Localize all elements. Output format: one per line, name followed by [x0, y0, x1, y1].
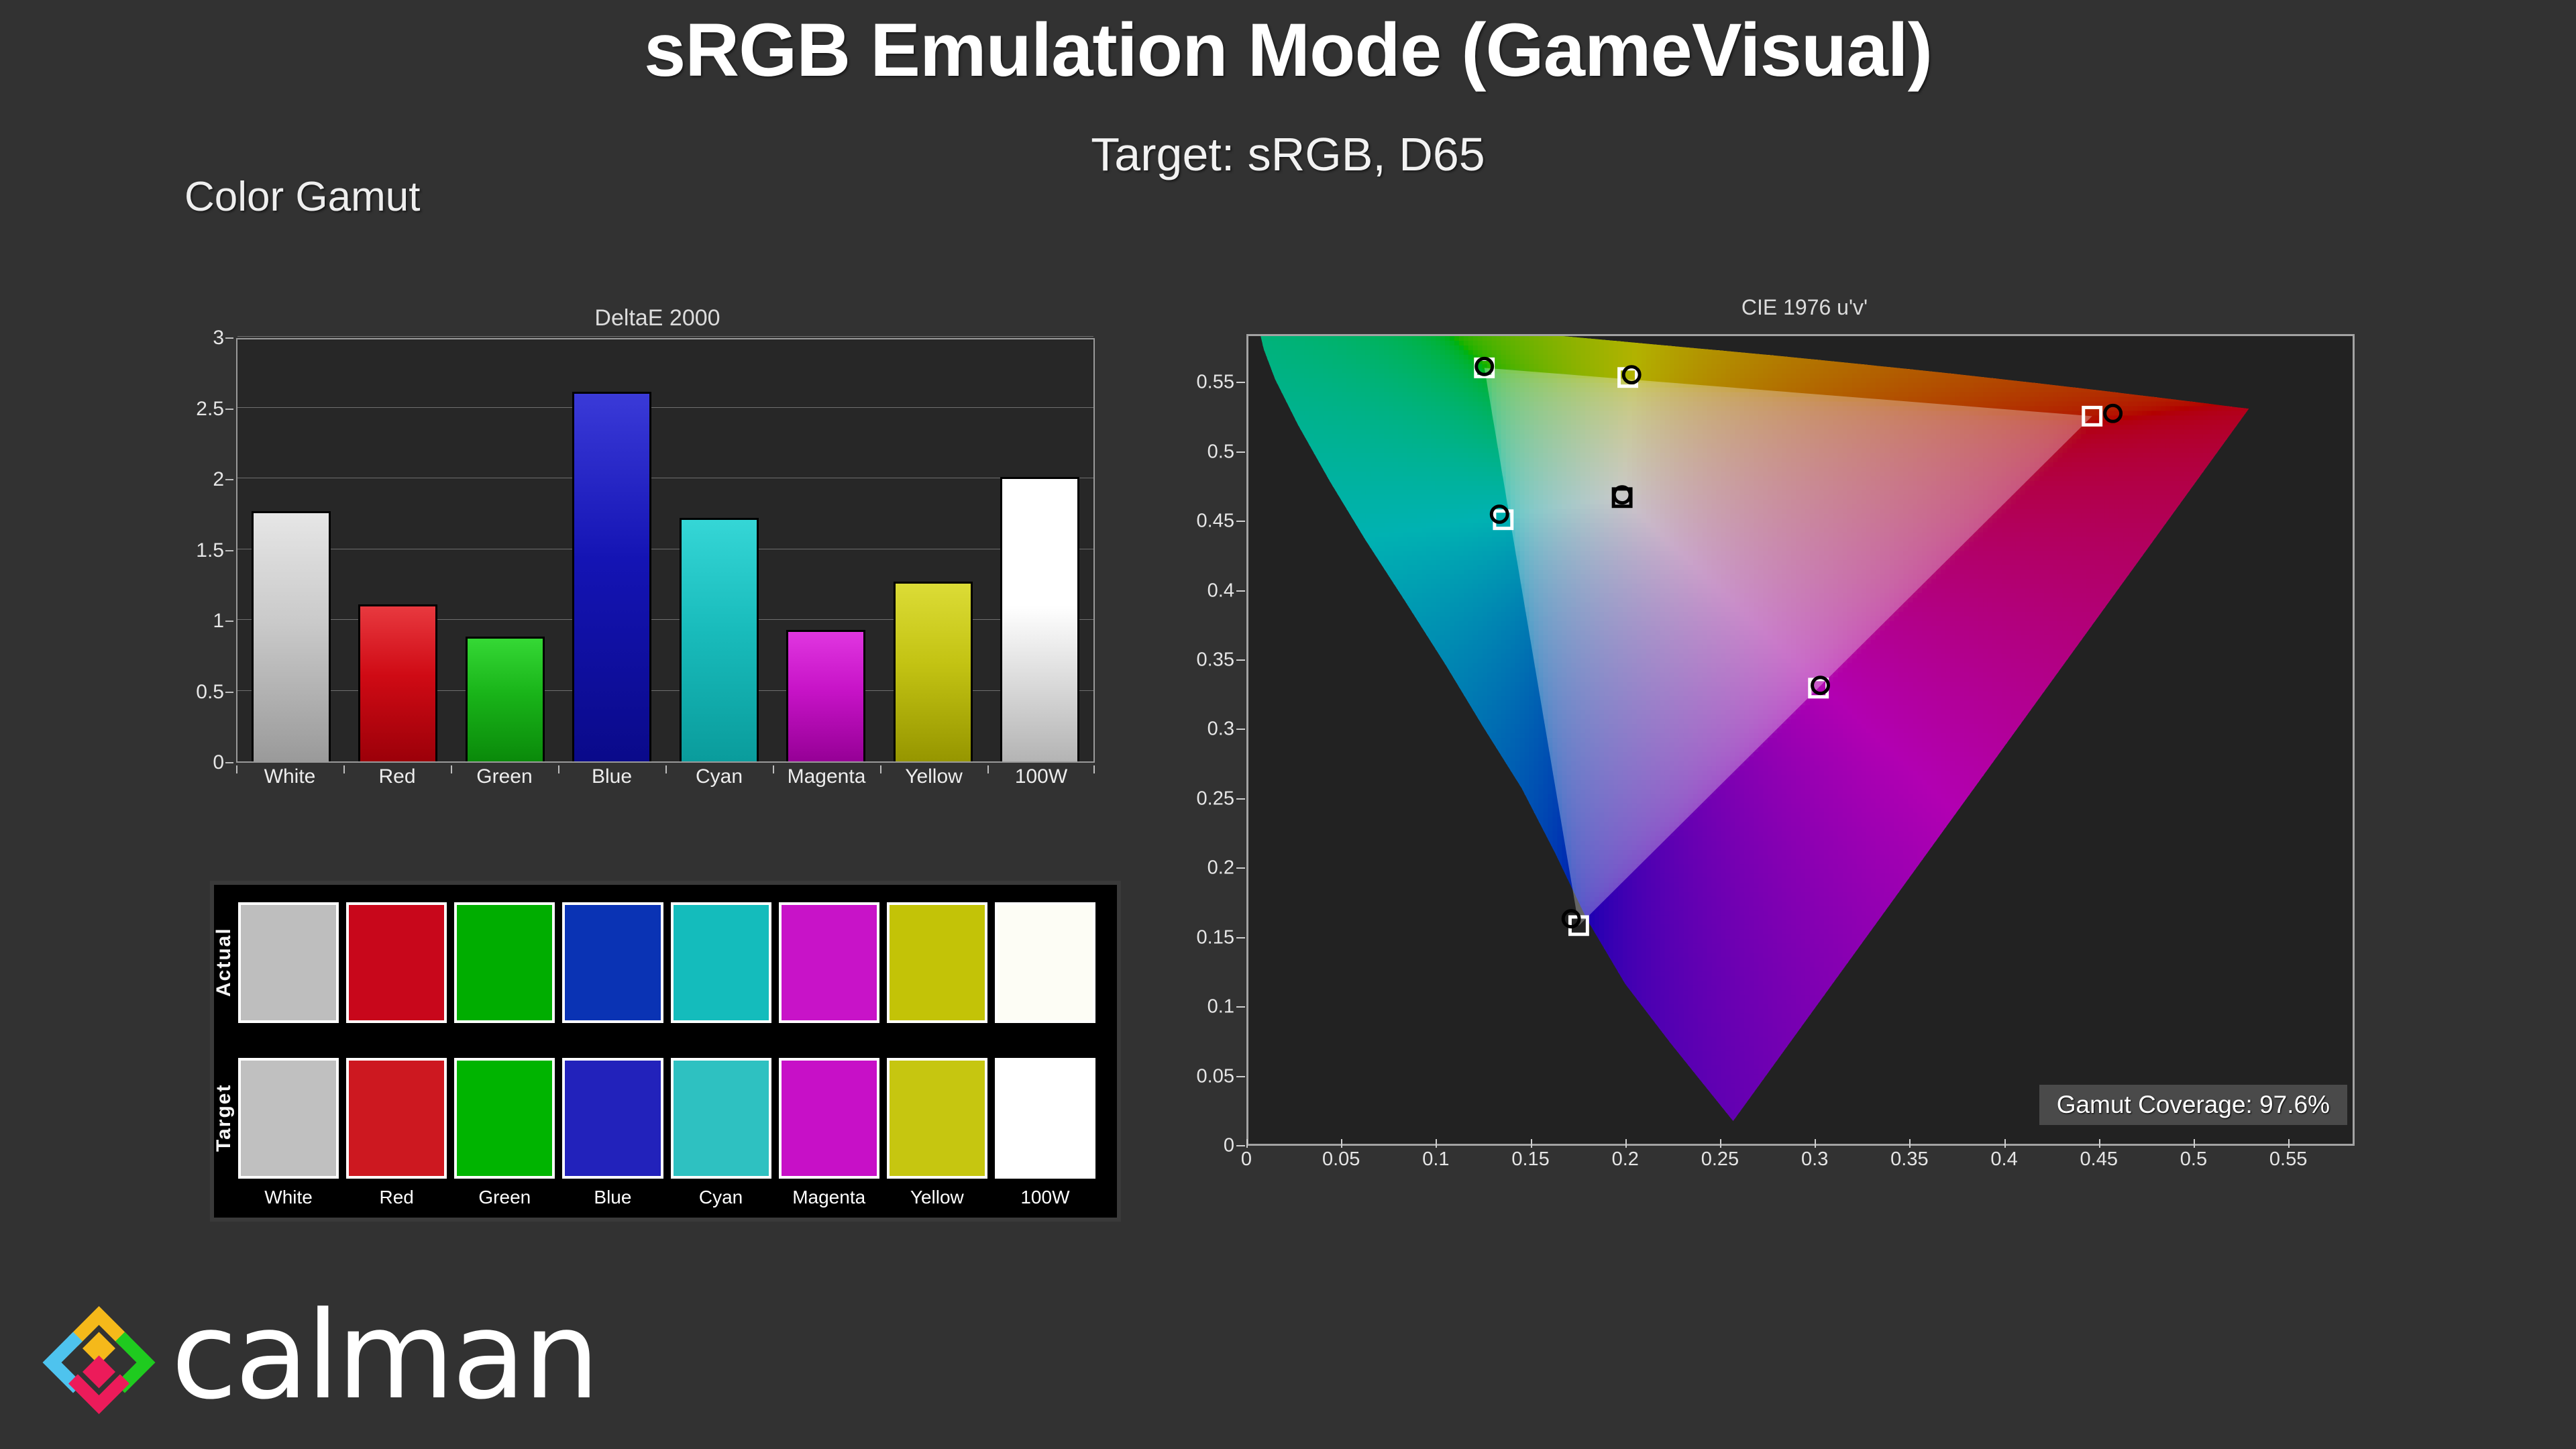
deltae-x-tick-label: Magenta — [773, 765, 880, 799]
cie-y-tick-label: 0.5 — [1207, 441, 1234, 463]
deltae-y-tick-label: 1.5 — [196, 539, 224, 562]
swatch-label: White — [238, 1187, 339, 1214]
deltae-bar — [466, 637, 545, 761]
cie-x-tick-label: 0 — [1241, 1148, 1252, 1171]
swatch-actual — [562, 902, 663, 1023]
swatch-target — [562, 1058, 663, 1179]
swatch-label: Blue — [562, 1187, 663, 1214]
deltae-x-tick-label: Blue — [558, 765, 665, 799]
swatch-label: 100W — [995, 1187, 1095, 1214]
deltae-y-tick-label: 0 — [213, 751, 224, 774]
cie-x-tick-label: 0.1 — [1422, 1148, 1449, 1171]
cie-chart-panel: CIE 1976 u'v' 00.050.10.150.20.250.30.35… — [1201, 295, 2368, 1194]
cie-y-tick-label: 0.35 — [1197, 649, 1234, 672]
swatch-row-label-actual: Actual — [213, 912, 235, 1012]
deltae-y-tick-label: 2 — [213, 468, 224, 491]
cie-x-tick-mark — [1625, 1139, 1627, 1148]
deltae-gridline — [237, 336, 1093, 337]
deltae-bar — [358, 604, 437, 761]
cie-y-tick-label: 0.25 — [1197, 788, 1234, 810]
section-title: Color Gamut — [184, 173, 420, 221]
deltae-bar-slot — [345, 339, 452, 761]
deltae-bar — [680, 518, 759, 761]
swatch-actual — [995, 902, 1095, 1023]
deltae-bar — [1000, 477, 1079, 761]
swatch-label: Cyan — [671, 1187, 771, 1214]
deltae-bar-slot — [451, 339, 559, 761]
cie-x-tick-label: 0.2 — [1612, 1148, 1639, 1171]
cie-x-tick-label: 0.05 — [1322, 1148, 1360, 1171]
deltae-y-tick-mark — [225, 409, 233, 410]
cie-y-tick-label: 0.05 — [1197, 1065, 1234, 1087]
cie-y-axis: 00.050.10.150.20.250.30.350.40.450.50.55 — [1201, 334, 1245, 1146]
cie-x-axis: 00.050.10.150.20.250.30.350.40.450.50.55 — [1246, 1148, 2355, 1189]
deltae-x-tick-mark — [773, 765, 774, 773]
swatch-comparison-panel: Actual Target WhiteRedGreenBlueCyanMagen… — [210, 881, 1121, 1222]
cie-x-tick-label: 0.4 — [1990, 1148, 2017, 1171]
cie-y-tick-label: 0.45 — [1197, 511, 1234, 533]
deltae-x-tick-label: 100W — [987, 765, 1095, 799]
deltae-y-tick-mark — [225, 692, 233, 693]
deltae-y-axis: 00.511.522.53 — [201, 338, 233, 763]
deltae-plot-area — [236, 338, 1095, 763]
deltae-x-tick-mark — [343, 765, 345, 773]
cie-y-tick-mark — [1236, 451, 1245, 453]
swatch-actual — [454, 902, 555, 1023]
cie-x-tick-mark — [2194, 1139, 2195, 1148]
swatch-actual — [887, 902, 987, 1023]
swatch-target — [238, 1058, 339, 1179]
swatch-label: Red — [346, 1187, 447, 1214]
cie-y-tick-mark — [1236, 1006, 1245, 1008]
cie-x-tick-label: 0.3 — [1801, 1148, 1828, 1171]
deltae-x-tick-label: Yellow — [880, 765, 987, 799]
deltae-x-tick-label: Red — [343, 765, 451, 799]
cie-y-tick-mark — [1236, 382, 1245, 383]
cie-y-tick-mark — [1236, 867, 1245, 869]
deltae-bar-group — [237, 339, 1093, 761]
deltae-x-tick-mark — [1093, 765, 1095, 773]
deltae-bar-slot — [665, 339, 773, 761]
deltae-x-tick-label: Cyan — [665, 765, 773, 799]
page-title: sRGB Emulation Mode (GameVisual) — [0, 7, 2576, 93]
cie-diagram-svg — [1248, 336, 2353, 1144]
swatch-target — [346, 1058, 447, 1179]
gamut-coverage-badge: Gamut Coverage: 97.6% — [2039, 1085, 2347, 1125]
deltae-x-tick-mark — [987, 765, 989, 773]
cie-x-tick-label: 0.55 — [2269, 1148, 2307, 1171]
calman-logo: calman — [40, 1298, 644, 1426]
cie-x-tick-label: 0.5 — [2180, 1148, 2207, 1171]
deltae-x-tick-mark — [451, 765, 452, 773]
deltae-bar-slot — [559, 339, 666, 761]
deltae-chart-title: DeltaE 2000 — [201, 305, 1114, 331]
cie-y-tick-label: 0.55 — [1197, 372, 1234, 394]
swatch-target — [671, 1058, 771, 1179]
cie-y-tick-label: 0.15 — [1197, 926, 1234, 949]
swatch-label: Magenta — [779, 1187, 879, 1214]
cie-y-tick-label: 0.2 — [1207, 857, 1234, 879]
deltae-y-tick-label: 1 — [213, 610, 224, 633]
swatch-actual — [779, 902, 879, 1023]
cie-x-tick-mark — [1720, 1139, 1721, 1148]
deltae-y-tick-label: 2.5 — [196, 398, 224, 421]
deltae-x-tick-mark — [558, 765, 559, 773]
deltae-bar — [252, 511, 331, 761]
deltae-x-tick-label: Green — [451, 765, 558, 799]
cie-y-tick-mark — [1236, 937, 1245, 938]
cie-x-tick-mark — [1531, 1139, 1532, 1148]
swatch-target — [887, 1058, 987, 1179]
swatch-row-actual — [238, 902, 1095, 1023]
cie-x-tick-mark — [1341, 1139, 1342, 1148]
deltae-bar — [786, 630, 865, 761]
deltae-chart-panel: DeltaE 2000 00.511.522.53 WhiteRedGreenB… — [201, 305, 1114, 802]
report-page: sRGB Emulation Mode (GameVisual) Target:… — [0, 0, 2576, 1449]
cie-y-tick-label: 0.4 — [1207, 580, 1234, 602]
deltae-x-tick-mark — [236, 765, 237, 773]
swatch-label: Green — [454, 1187, 555, 1214]
deltae-bar — [572, 392, 651, 761]
cie-x-tick-mark — [2099, 1139, 2100, 1148]
cie-x-tick-label: 0.35 — [1890, 1148, 1928, 1171]
swatch-labels: WhiteRedGreenBlueCyanMagentaYellow100W — [238, 1187, 1095, 1214]
cie-y-tick-label: 0 — [1224, 1135, 1234, 1157]
deltae-bar-slot — [987, 339, 1094, 761]
swatch-target — [454, 1058, 555, 1179]
deltae-bar-slot — [773, 339, 880, 761]
swatch-actual — [671, 902, 771, 1023]
swatch-row-label-target: Target — [213, 1067, 235, 1168]
swatch-target — [995, 1058, 1095, 1179]
cie-x-tick-mark — [1815, 1139, 1816, 1148]
cie-plot-area: Gamut Coverage: 97.6% — [1246, 334, 2355, 1146]
deltae-x-tick-mark — [665, 765, 667, 773]
cie-y-tick-label: 0.3 — [1207, 718, 1234, 741]
deltae-y-tick-label: 3 — [213, 327, 224, 350]
cie-x-tick-label: 0.15 — [1511, 1148, 1549, 1171]
swatch-actual — [346, 902, 447, 1023]
cie-x-tick-mark — [1909, 1139, 1911, 1148]
deltae-x-axis: WhiteRedGreenBlueCyanMagentaYellow100W — [236, 765, 1095, 799]
cie-chart-title: CIE 1976 u'v' — [1241, 295, 2368, 320]
swatch-label: Yellow — [887, 1187, 987, 1214]
deltae-y-tick-mark — [225, 337, 233, 339]
swatch-actual — [238, 902, 339, 1023]
deltae-y-tick-mark — [225, 550, 233, 551]
deltae-bar — [894, 582, 973, 761]
swatch-target — [779, 1058, 879, 1179]
deltae-y-tick-mark — [225, 762, 233, 763]
cie-y-tick-mark — [1236, 659, 1245, 661]
cie-x-tick-label: 0.45 — [2080, 1148, 2118, 1171]
cie-y-tick-mark — [1236, 798, 1245, 800]
cie-x-tick-mark — [1246, 1139, 1248, 1148]
deltae-y-tick-label: 0.5 — [196, 681, 224, 704]
deltae-bar-slot — [879, 339, 987, 761]
cie-x-tick-mark — [2288, 1139, 2290, 1148]
cie-y-tick-mark — [1236, 590, 1245, 592]
cie-y-tick-mark — [1236, 729, 1245, 730]
deltae-bar-slot — [237, 339, 345, 761]
deltae-y-tick-mark — [225, 621, 233, 622]
cie-x-tick-mark — [2004, 1139, 2006, 1148]
cie-y-tick-mark — [1236, 1076, 1245, 1077]
deltae-x-tick-label: White — [236, 765, 343, 799]
swatch-row-target — [238, 1058, 1095, 1179]
deltae-x-tick-mark — [880, 765, 881, 773]
calman-wordmark: calman — [171, 1286, 597, 1426]
cie-x-tick-label: 0.25 — [1701, 1148, 1739, 1171]
cie-x-tick-mark — [1436, 1139, 1437, 1148]
cie-y-tick-mark — [1236, 521, 1245, 522]
calman-diamond-icon — [40, 1301, 158, 1419]
cie-y-tick-mark — [1236, 1145, 1245, 1146]
deltae-y-tick-mark — [225, 479, 233, 480]
cie-y-tick-label: 0.1 — [1207, 996, 1234, 1018]
